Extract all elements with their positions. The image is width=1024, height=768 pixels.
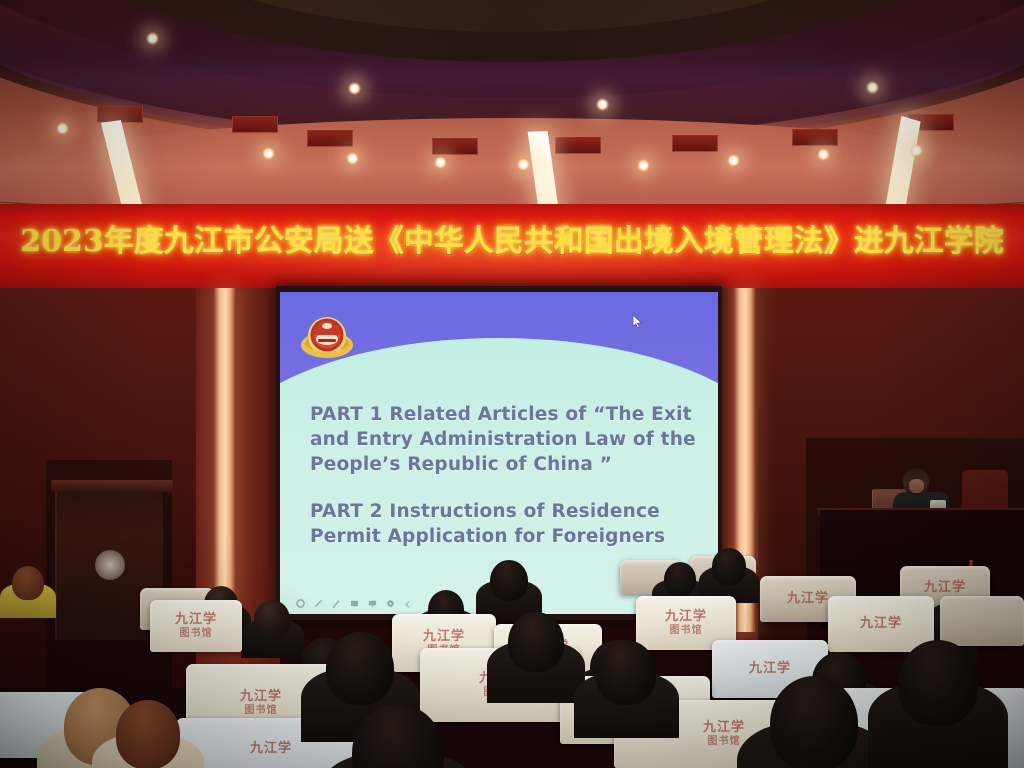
pillar-light-left [214,288,236,632]
recessed-spot-light [596,98,609,111]
university-crest [95,550,125,580]
recessed-spot-light [56,122,69,135]
mouse-pointer-icon [632,314,643,329]
china-police-emblem [300,312,354,362]
seat-cover-text-line2: 图书馆 [670,625,703,636]
audience-member-head [596,640,656,705]
slide-part1-text: PART 1 Related Articles of “The Exit and… [310,402,700,477]
seat-cover-text: 九江学 [828,596,934,652]
recessed-spot-light [866,81,879,94]
seat-cover-text-line2: 图书馆 [245,705,278,716]
audience-member-head [898,640,978,726]
seat-cover-text-line1: 九江学 [749,662,791,677]
audience-member-head [712,548,746,585]
seat-cover-text-line1: 九江学 [924,581,966,596]
ceiling-air-vent [555,137,601,154]
recessed-spot-light [146,32,159,45]
ceiling-air-vent [232,116,278,133]
audience-member-head [116,700,180,768]
auditorium-ceiling [0,0,1024,216]
audience-seat: 九江学图书馆 [150,600,242,652]
seat-cover-text-line2: 图书馆 [708,736,741,747]
recessed-spot-light [637,159,650,172]
audience-member-head [508,612,564,672]
audience-seat: 九江学 [828,596,934,652]
seat-cover-text-line1: 九江学 [175,613,217,628]
audience-seat [940,596,1024,646]
highlighter-icon[interactable] [332,595,341,604]
recessed-spot-light [517,158,530,171]
seat-cover-text: 九江学图书馆 [150,600,242,652]
ceiling-air-vent [792,129,838,146]
auditorium-scene: 2023年度九江市公安局送《中华人民共和国出境入境管理法》进九江学院 [0,0,1024,768]
seat-cover-text-line2: 图书馆 [180,628,213,639]
seat-cover-text-line1: 九江学 [787,592,829,607]
next-arrow-icon[interactable] [404,595,413,604]
more-options-icon[interactable] [386,595,395,604]
audience-member-head [254,600,290,639]
pointer-icon[interactable] [296,595,305,604]
audience-member-head [12,566,44,600]
seat-cover-text-line1: 九江学 [240,690,282,705]
recessed-spot-light [434,156,447,169]
recessed-spot-light [817,148,830,161]
screen-icon[interactable] [368,595,377,604]
recessed-spot-light [262,147,275,160]
seat-cover-text-line1: 九江学 [860,617,902,632]
recessed-spot-light [727,154,740,167]
seat-cover-text-line1: 九江学 [423,630,465,645]
ceiling-air-vent [672,135,718,152]
recessed-spot-light [910,144,923,157]
presentation-toolbar[interactable] [296,595,413,604]
audience-member-head [490,560,528,601]
audience-member-head [326,632,394,705]
seat-cover-text-line1: 九江学 [703,721,745,736]
event-banner-text: 2023年度九江市公安局送《中华人民共和国出境入境管理法》进九江学院 [0,216,1024,260]
slide-part2-text: PART 2 Instructions of Residence Permit … [310,499,700,549]
slide-text-block: PART 1 Related Articles of “The Exit and… [310,402,700,549]
audience-member-head [770,676,858,768]
seat-cover-text-line1: 九江学 [665,610,707,625]
ceiling-air-vent [432,138,478,155]
recessed-spot-light [348,82,361,95]
podium-top-surface [51,480,173,492]
pen-icon[interactable] [314,595,323,604]
police-officer-face [909,479,924,493]
seat-cover-text-line1: 九江学 [250,742,292,757]
slide-grid-icon[interactable] [350,595,359,604]
recessed-spot-light [346,152,359,165]
ceiling-air-vent [307,130,353,147]
audience-member-head [664,562,696,596]
